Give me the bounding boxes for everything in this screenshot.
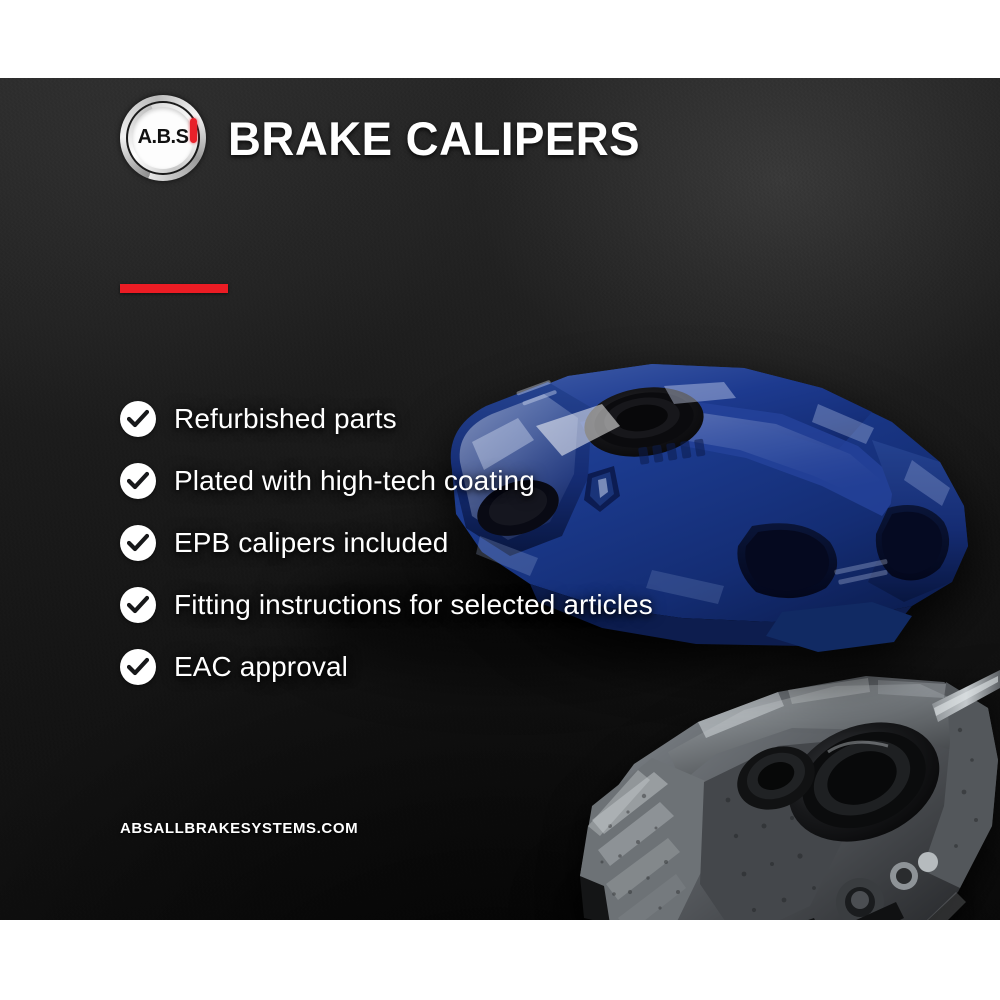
list-item-label: Fitting instructions for selected articl… <box>174 589 653 621</box>
page-title: BRAKE CALIPERS <box>228 111 640 166</box>
list-item: Plated with high-tech coating <box>120 450 653 512</box>
website-url: ABSALLBRAKESYSTEMS.COM <box>120 820 358 837</box>
feature-list: Refurbished parts Plated with high-tech … <box>120 388 653 698</box>
list-item: EAC approval <box>120 636 653 698</box>
list-item: EPB calipers included <box>120 512 653 574</box>
list-item-label: EAC approval <box>174 651 348 683</box>
poster-header: A.B.S BRAKE CALIPERS <box>120 95 653 181</box>
poster-canvas: A.B.S BRAKE CALIPERS Refurbished parts P… <box>0 0 1000 1000</box>
logo-disc: A.B.S <box>132 107 194 169</box>
list-item-label: Plated with high-tech coating <box>174 465 535 497</box>
list-item-label: Refurbished parts <box>174 403 397 435</box>
check-circle-icon <box>120 525 156 561</box>
list-item: Fitting instructions for selected articl… <box>120 574 653 636</box>
abs-logo-badge-icon: A.B.S <box>120 95 206 181</box>
logo-text: A.B.S <box>138 127 189 147</box>
accent-rule <box>120 284 228 293</box>
logo-red-accent-arc <box>190 118 197 143</box>
check-circle-icon <box>120 463 156 499</box>
check-circle-icon <box>120 649 156 685</box>
check-circle-icon <box>120 587 156 623</box>
list-item-label: EPB calipers included <box>174 527 448 559</box>
list-item: Refurbished parts <box>120 388 653 450</box>
check-circle-icon <box>120 401 156 437</box>
